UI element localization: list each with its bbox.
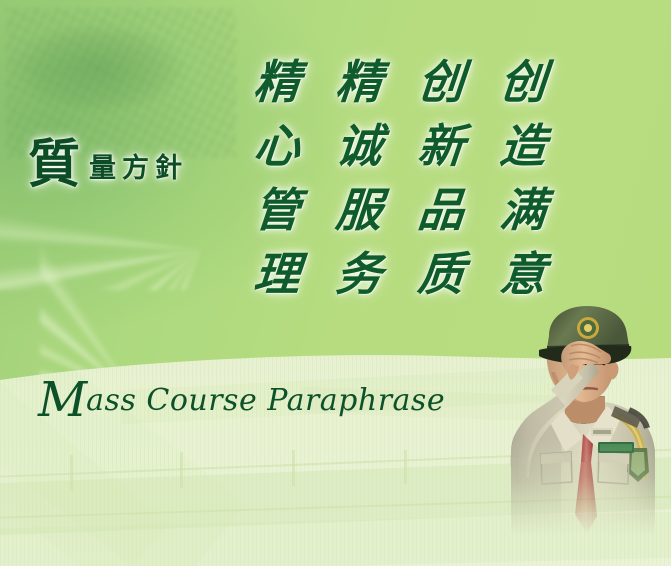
calligraphy-char: 创: [494, 54, 553, 110]
calligraphy-column-3: 创 新 品 质: [414, 54, 468, 302]
calligraphy-char: 心: [248, 118, 307, 174]
calligraphy-column-1: 精 心 管 理: [250, 54, 304, 302]
calligraphy-char: 诚: [330, 118, 389, 174]
headline-primary-char: 質: [28, 139, 80, 191]
english-slogan: Mass Course Paraphrase: [38, 374, 445, 421]
saluting-security-guard: [487, 302, 671, 566]
calligraphy-char: 创: [412, 54, 471, 110]
calligraphy-column-4: 创 造 满 意: [496, 54, 550, 302]
calligraphy-char: 务: [330, 246, 389, 302]
calligraphy-char: 精: [248, 54, 307, 110]
calligraphy-char: 新: [412, 118, 471, 174]
slogan-text: ass Course Paraphrase: [86, 383, 445, 418]
calligraphy-char: 精: [330, 54, 389, 110]
headline-secondary-chars: 量方針: [89, 152, 188, 191]
calligraphy-char: 服: [330, 182, 389, 238]
calligraphy-column-2: 精 诚 服 务: [332, 54, 386, 302]
calligraphy-char: 理: [248, 246, 307, 302]
calligraphy-char: 造: [494, 118, 553, 174]
calligraphy-char: 品: [412, 182, 471, 238]
calligraphy-char: 管: [248, 182, 307, 238]
calligraphy-char: 意: [494, 246, 553, 302]
headline-quality-policy: 質 量方針: [28, 139, 188, 191]
slogan-drop-cap: M: [38, 372, 86, 428]
calligraphy-char: 满: [494, 182, 553, 238]
poster-canvas: 質 量方針 精 心 管 理 精 诚 服 务 创 新 品 质 创 造 满 意: [0, 0, 671, 566]
calligraphy-grid: 精 心 管 理 精 诚 服 务 创 新 品 质 创 造 满 意: [250, 54, 550, 302]
calligraphy-char: 质: [412, 246, 471, 302]
